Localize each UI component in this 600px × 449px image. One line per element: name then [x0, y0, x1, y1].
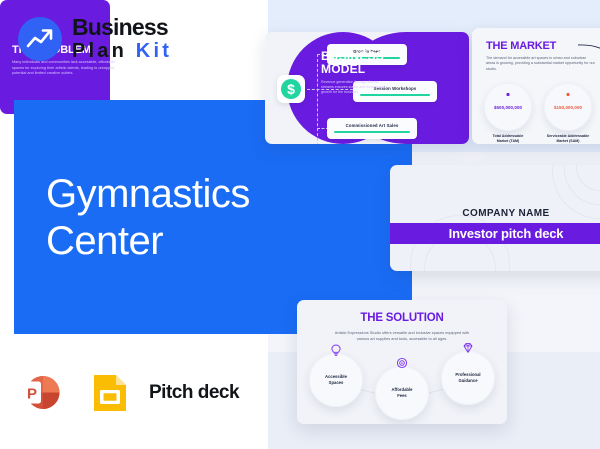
poster-canvas: Gymnastics Center BUSINESS MODEL Revenue… [0, 0, 600, 449]
business-model-body: Revenue generation through diverse strea… [321, 80, 387, 96]
business-model-item-underline [334, 131, 410, 133]
solution-pillar-label: Affordable Fees [392, 387, 413, 398]
market-metric-label-line2: Market (TAM) [477, 139, 539, 144]
business-model-heading-line1: BUSINESS [321, 50, 387, 63]
solution-pillar-label: Professional Guidance [455, 372, 480, 383]
solution-pillar-label: Accessible Spaces [325, 374, 347, 385]
solution-pillar[interactable]: Professional Guidance [441, 351, 495, 405]
market-metric-circle: $500,000,000 [484, 83, 532, 131]
slide-company-name[interactable]: COMPANY NAME Investor pitch deck [390, 165, 600, 271]
market-metric-circle: $150,000,000 [544, 83, 592, 131]
dollar-icon-glyph: $ [281, 79, 301, 99]
slide-solution[interactable]: THE SOLUTION Artistic Expressions Studio… [297, 300, 507, 424]
solution-pillar-label-line2: Spaces [325, 380, 347, 386]
business-model-heading-line2: MODEL [321, 63, 387, 76]
business-model-item[interactable]: Commissioned Art Sales [327, 118, 417, 139]
diamond-icon [462, 342, 474, 354]
brand-logo-text: Business Plan Kit [72, 16, 172, 62]
market-metric-label-line2: Market (SAM) [537, 139, 599, 144]
investor-pitch-deck-band: Investor pitch deck [390, 223, 600, 244]
hero-title-line2: Center [46, 218, 386, 265]
dollar-icon: $ [277, 75, 305, 103]
solution-pillar[interactable]: Accessible Spaces [309, 353, 363, 407]
solution-body: Artistic Expressions Studio offers versa… [333, 330, 471, 341]
brand-logo-plan: Plan [72, 40, 136, 62]
market-metric-dot [507, 93, 510, 96]
format-badges: P Pitch deck [18, 370, 239, 415]
solution-heading: THE SOLUTION [297, 312, 507, 324]
circle-target-icon [396, 357, 408, 369]
hero-title: Gymnastics Center [46, 171, 386, 265]
investor-pitch-deck-label: Investor pitch deck [449, 226, 564, 241]
market-metric-value: $500,000,000 [494, 105, 522, 110]
market-metric-label: Serviceable Addressable Market (SAM) [537, 134, 599, 144]
google-slides-icon-glyph [87, 370, 132, 415]
market-metric-dot [567, 93, 570, 96]
market-metric-label: Total Addressable Market (TAM) [477, 134, 539, 144]
powerpoint-icon-glyph: P [18, 370, 63, 415]
brand-logo-kit: Kit [136, 40, 172, 62]
brand-logo-line1: Business [72, 16, 172, 39]
market-heading: THE MARKET [486, 40, 556, 52]
market-metric-value: $150,000,000 [554, 105, 582, 110]
lightbulb-icon [331, 344, 342, 357]
growth-arrow-icon [18, 17, 62, 61]
growth-arrow-icon-glyph [18, 17, 62, 61]
business-model-connector-vertical [317, 54, 318, 144]
google-slides-icon[interactable] [87, 370, 132, 415]
problem-body: Many individuals and communities lack ac… [12, 60, 116, 77]
curved-arrow-icon [576, 42, 600, 66]
powerpoint-icon[interactable]: P [18, 370, 63, 415]
slide-business-model[interactable]: BUSINESS MODEL Revenue generation throug… [265, 32, 469, 144]
svg-text:P: P [27, 386, 37, 403]
slide-market[interactable]: THE MARKET The demand for accessible art… [472, 28, 600, 144]
solution-pillar[interactable]: Affordable Fees [375, 366, 429, 420]
solution-pillar-label-line2: Guidance [455, 378, 480, 384]
business-model-item-label: Commissioned Art Sales [334, 123, 410, 128]
solution-pillar-label-line2: Fees [392, 393, 413, 399]
brand-logo-line2: Plan Kit [72, 40, 172, 62]
hero-title-line1: Gymnastics [46, 171, 386, 218]
format-badges-label: Pitch deck [149, 382, 239, 404]
company-name-title: COMPANY NAME [390, 208, 600, 219]
brand-logo: Business Plan Kit [18, 16, 172, 62]
business-model-text-block: BUSINESS MODEL Revenue generation throug… [321, 50, 387, 96]
